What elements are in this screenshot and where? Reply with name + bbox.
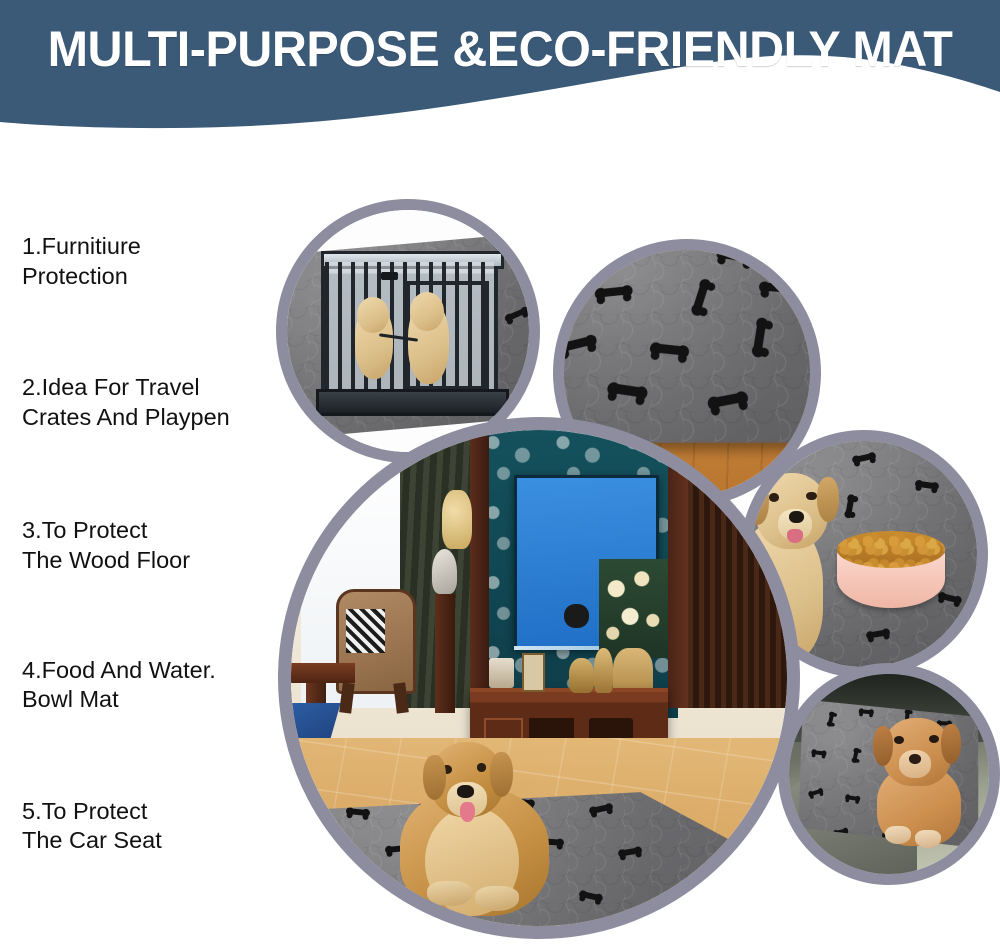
car-seat-scene — [789, 674, 989, 874]
photo-circle-living-room — [278, 417, 800, 939]
bulldog-puppy — [789, 674, 989, 874]
golden-retriever — [291, 430, 787, 926]
feature-item-5: 5.To Protect The Car Seat — [22, 797, 284, 856]
crate-scene — [287, 210, 529, 452]
living-room-scene — [291, 430, 787, 926]
feature-item-2: 2.Idea For Travel Crates And Playpen — [22, 373, 284, 432]
floor-mat — [553, 239, 821, 443]
feature-list: 1.Furnitiure Protection 2.Idea For Trave… — [22, 232, 284, 856]
page-title: MULTI-PURPOSE &ECO-FRIENDLY MAT — [15, 20, 985, 78]
feature-item-4: 4.Food And Water. Bowl Mat — [22, 656, 284, 715]
feature-item-1: 1.Furnitiure Protection — [22, 232, 284, 291]
feature-item-3: 3.To Protect The Wood Floor — [22, 516, 284, 575]
photo-circle-car-seat — [778, 663, 1000, 885]
